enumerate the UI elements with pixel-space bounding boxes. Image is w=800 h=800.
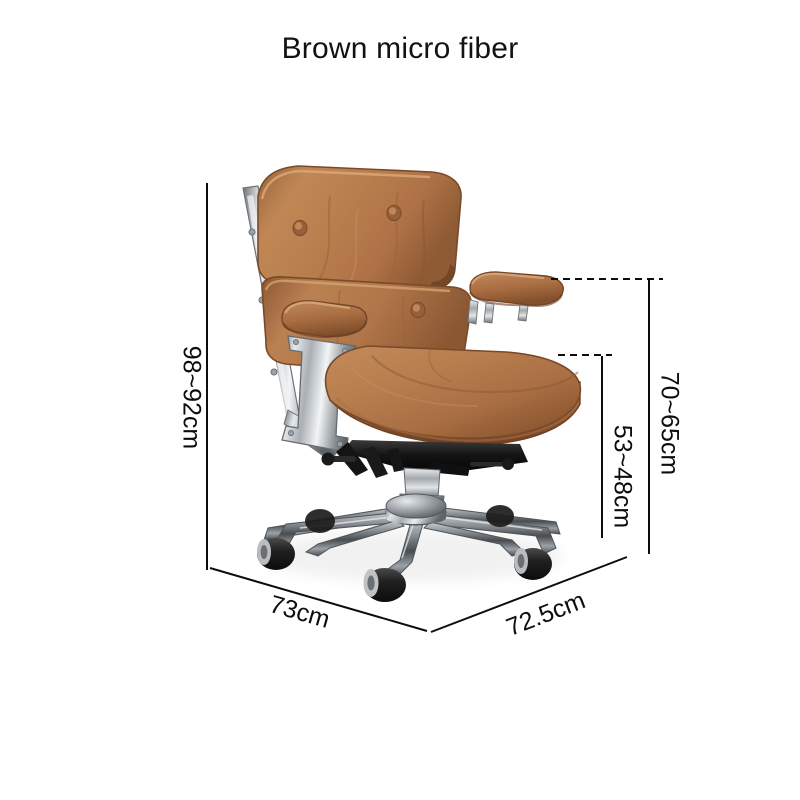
- label-overall-height: 98~92cm: [177, 338, 206, 458]
- label-seat-height: 53~48cm: [608, 417, 637, 537]
- product-dimension-figure: Brown micro fiber: [0, 0, 800, 800]
- label-armrest-height: 70~65cm: [655, 364, 684, 484]
